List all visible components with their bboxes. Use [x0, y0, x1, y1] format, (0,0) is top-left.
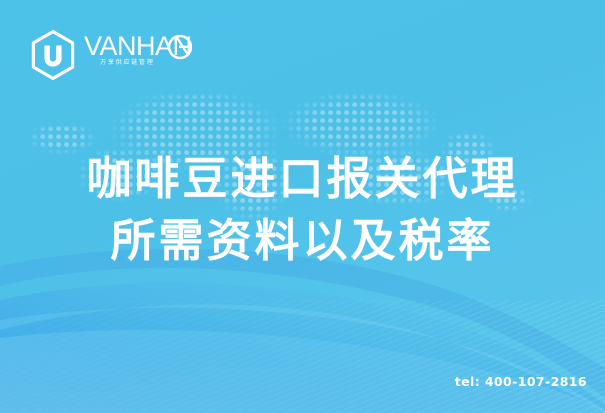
diagonal-hatch-texture	[0, 300, 605, 413]
headline-line-2: 所需资料以及税率	[0, 210, 605, 272]
logo-subtitle: 万享供应链管理	[100, 57, 155, 66]
vanhang-hexagon-u-logo-icon	[30, 30, 76, 80]
headline-block: 咖啡豆进口报关代理 所需资料以及税率	[0, 148, 605, 272]
headline-line-1: 咖啡豆进口报关代理	[0, 148, 605, 210]
logo-text-block: VANHAN 万享供应链管理	[84, 30, 192, 80]
contact-telephone[interactable]: tel: 400-107-2816	[455, 374, 587, 389]
brand-logo[interactable]: VANHAN 万享供应链管理	[30, 30, 192, 80]
promo-banner: VANHAN 万享供应链管理 咖啡豆进口报关代理 所需资料以及税率 tel: 4…	[0, 0, 605, 413]
